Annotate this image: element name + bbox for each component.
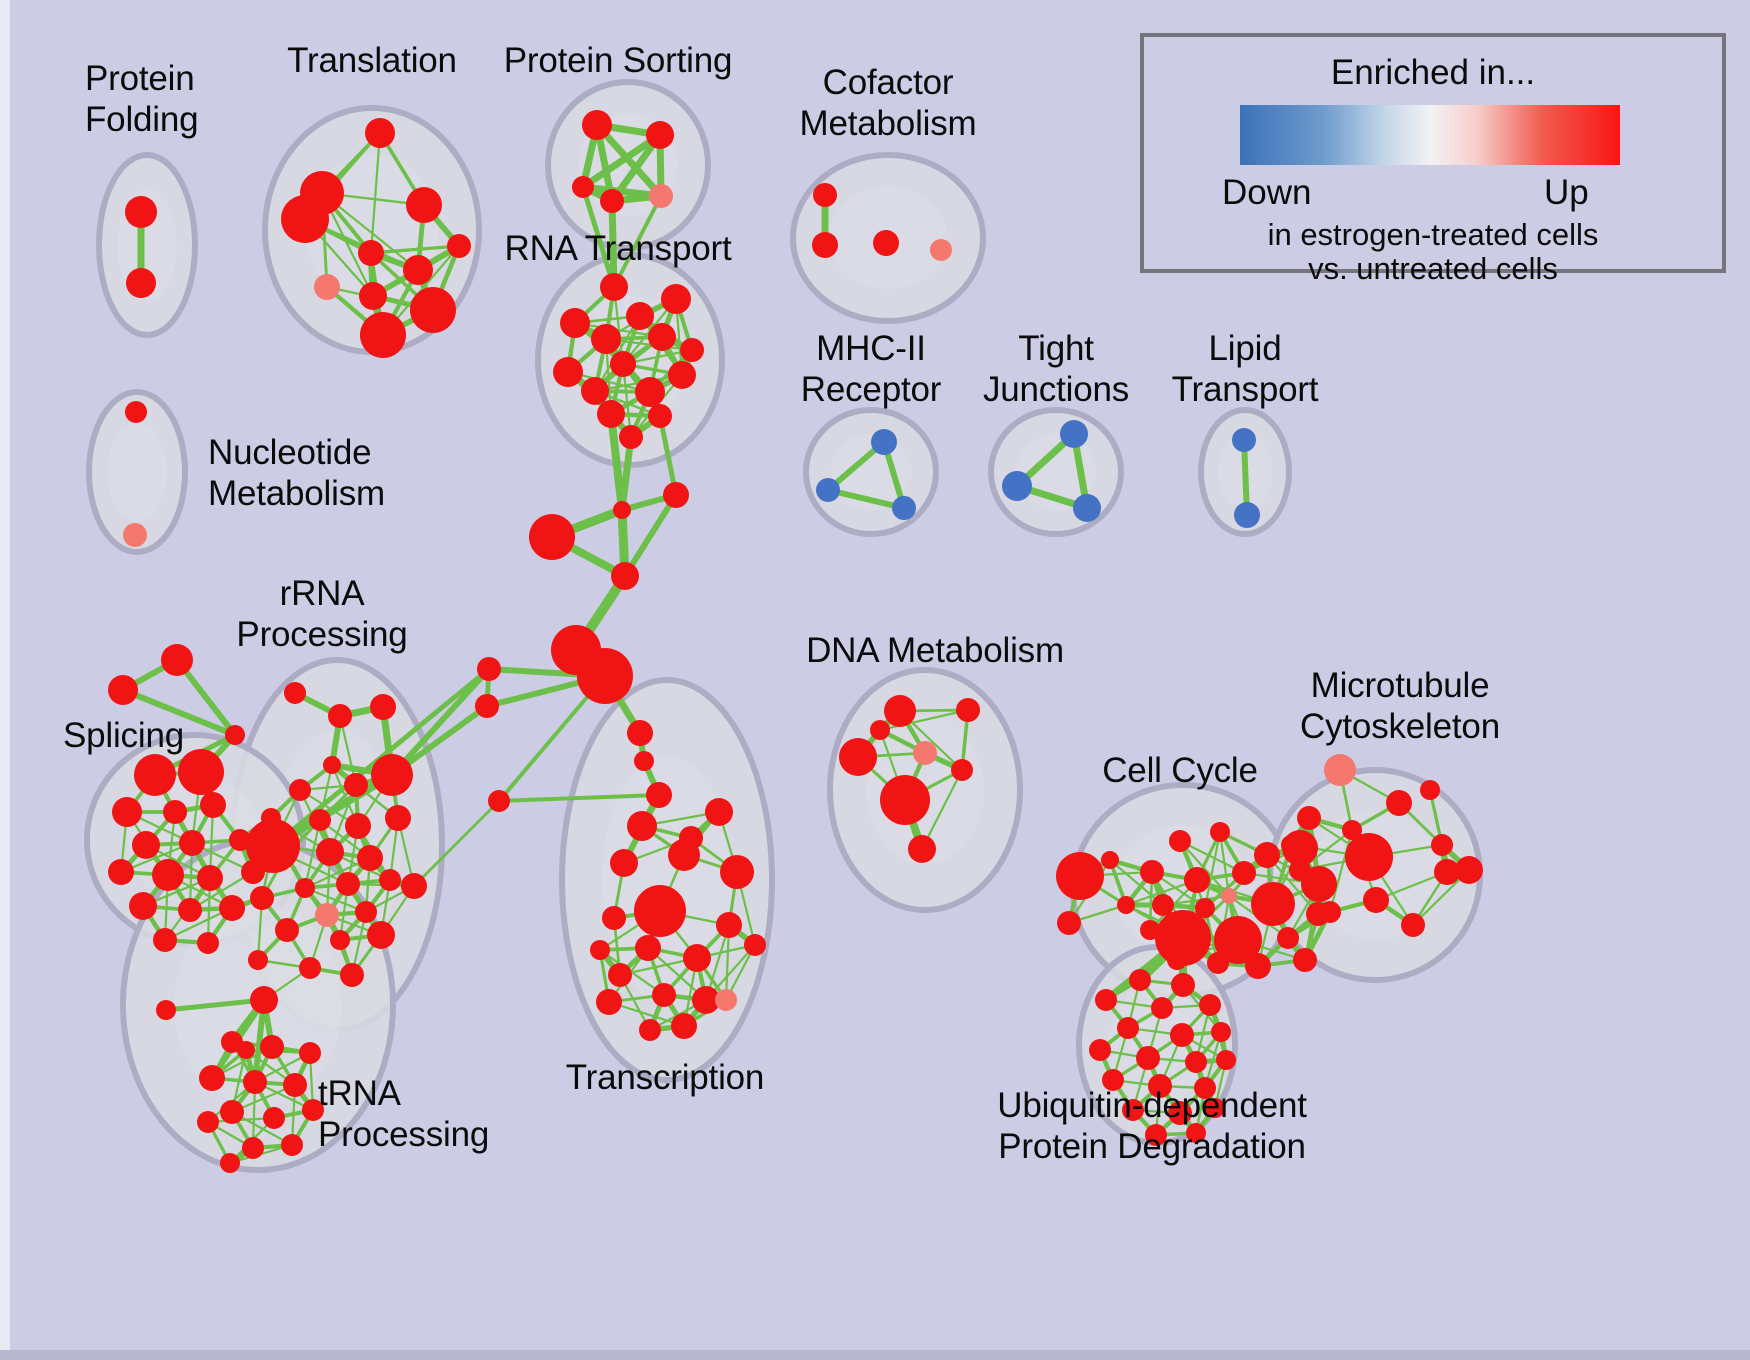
gene-set-node[interactable] <box>600 189 624 213</box>
gene-set-node[interactable] <box>365 118 395 148</box>
gene-set-node[interactable] <box>634 751 654 771</box>
enrichment-map-figure: ProteinFolding Translation Protein Sorti… <box>0 0 1750 1360</box>
cluster-label-cofactor-metabolism: CofactorMetabolism <box>800 62 977 144</box>
gene-set-node[interactable] <box>1342 820 1362 840</box>
gene-set-node[interactable] <box>602 906 626 930</box>
gene-set-node[interactable] <box>627 811 657 841</box>
cluster-label-dna-metabolism: DNA Metabolism <box>806 630 1064 671</box>
gene-set-node[interactable] <box>1401 913 1425 937</box>
gene-set-node[interactable] <box>597 400 625 428</box>
gene-set-node[interactable] <box>199 1065 225 1091</box>
gene-set-node[interactable] <box>648 323 676 351</box>
gene-set-node[interactable] <box>1245 953 1271 979</box>
gene-set-node[interactable] <box>330 930 350 950</box>
gene-set-node[interactable] <box>627 720 653 746</box>
gene-set-node[interactable] <box>260 1035 284 1059</box>
gene-set-node[interactable] <box>367 921 395 949</box>
cluster-label-rna-transport: RNA Transport <box>505 228 732 269</box>
legend-box: Enriched in... Down Up in estrogen-treat… <box>1140 33 1726 273</box>
gene-set-node[interactable] <box>220 1100 244 1124</box>
gene-set-node[interactable] <box>243 1070 267 1094</box>
cluster-label-protein-sorting: Protein Sorting <box>504 40 733 81</box>
gene-set-node[interactable] <box>340 963 364 987</box>
gene-set-node[interactable] <box>560 308 590 338</box>
gene-set-node[interactable] <box>1297 806 1321 830</box>
gene-set-node[interactable] <box>652 983 676 1007</box>
cluster-label-ubiquitin-protein-degradation: Ubiquitin-dependentProtein Degradation <box>997 1085 1307 1167</box>
gene-set-node[interactable] <box>1251 882 1295 926</box>
gene-set-node[interactable] <box>1169 830 1191 852</box>
gene-set-node[interactable] <box>591 324 621 354</box>
cluster-label-translation: Translation <box>287 40 457 81</box>
gene-set-node[interactable] <box>715 989 737 1011</box>
gene-set-node[interactable] <box>1324 754 1356 786</box>
gene-set-node[interactable] <box>683 944 711 972</box>
gene-set-node[interactable] <box>406 187 442 223</box>
gene-set-node[interactable] <box>812 232 838 258</box>
gene-set-node[interactable] <box>112 797 142 827</box>
gene-set-node[interactable] <box>355 901 377 923</box>
gene-set-node[interactable] <box>635 935 661 961</box>
gene-set-node[interactable] <box>385 805 411 831</box>
gene-set-node[interactable] <box>873 230 899 256</box>
gene-set-node[interactable] <box>613 501 631 519</box>
gene-set-node[interactable] <box>242 1137 264 1159</box>
gene-set-node[interactable] <box>132 831 160 859</box>
gene-set-node[interactable] <box>1171 973 1195 997</box>
gene-set-node[interactable] <box>225 725 245 745</box>
gene-set-node[interactable] <box>581 377 609 405</box>
gene-set-node[interactable] <box>720 855 754 889</box>
gene-set-node[interactable] <box>619 425 643 449</box>
gene-set-node[interactable] <box>611 562 639 590</box>
cluster-label-trna-processing: tRNAProcessing <box>318 1073 489 1155</box>
gene-set-node[interactable] <box>813 183 837 207</box>
gene-set-node[interactable] <box>1136 1046 1160 1070</box>
gene-set-node[interactable] <box>553 357 583 387</box>
gene-set-node[interactable] <box>219 895 245 921</box>
gene-set-node[interactable] <box>179 830 205 856</box>
gene-set-node[interactable] <box>295 878 315 898</box>
gene-set-node[interactable] <box>263 1107 285 1129</box>
gene-set-node[interactable] <box>600 273 628 301</box>
gene-set-node[interactable] <box>163 800 187 824</box>
gene-set-node[interactable] <box>371 754 413 796</box>
gene-set-node[interactable] <box>125 196 157 228</box>
gene-set-node[interactable] <box>671 1013 697 1039</box>
gene-set-node[interactable] <box>220 1153 240 1173</box>
gene-set-node[interactable] <box>1216 1050 1236 1070</box>
gene-set-node[interactable] <box>1185 1051 1207 1073</box>
gene-set-node[interactable] <box>358 240 384 266</box>
gene-set-node[interactable] <box>1293 948 1317 972</box>
gene-set-node[interactable] <box>1420 780 1440 800</box>
gene-set-node[interactable] <box>299 1042 321 1064</box>
gene-set-node[interactable] <box>281 1134 303 1156</box>
gene-set-node[interactable] <box>250 986 278 1014</box>
gene-set-node[interactable] <box>1232 861 1256 885</box>
gene-set-node[interactable] <box>1140 860 1164 884</box>
cluster-label-nucleotide-metabolism: NucleotideMetabolism <box>208 432 385 514</box>
gene-set-node[interactable] <box>1101 851 1119 869</box>
gene-set-node[interactable] <box>250 886 274 910</box>
gene-set-node[interactable] <box>178 898 202 922</box>
gene-set-node[interactable] <box>123 523 147 547</box>
gene-set-node[interactable] <box>610 849 638 877</box>
gene-set-node[interactable] <box>1345 833 1393 881</box>
gene-set-node[interactable] <box>880 775 930 825</box>
gene-set-node[interactable] <box>646 782 672 808</box>
gene-set-node[interactable] <box>1056 852 1104 900</box>
gene-set-node[interactable] <box>1210 822 1230 842</box>
gene-set-node[interactable] <box>178 749 224 795</box>
gene-set-node[interactable] <box>1073 494 1101 522</box>
gene-set-node[interactable] <box>871 429 897 455</box>
gene-set-node[interactable] <box>610 351 636 377</box>
gene-set-node[interactable] <box>1184 867 1210 893</box>
gene-set-node[interactable] <box>328 704 352 728</box>
gene-set-node[interactable] <box>370 694 396 720</box>
gene-set-node[interactable] <box>153 928 177 952</box>
gene-set-node[interactable] <box>870 720 890 740</box>
gene-set-node[interactable] <box>197 865 223 891</box>
cluster-label-lipid-transport: LipidTransport <box>1172 328 1319 410</box>
gene-set-node[interactable] <box>152 859 184 891</box>
legend-color-gradient-bar <box>1240 105 1620 165</box>
gene-set-node[interactable] <box>705 798 733 826</box>
gene-set-node[interactable] <box>1363 887 1389 913</box>
gene-set-node[interactable] <box>908 835 936 863</box>
gene-set-node[interactable] <box>283 1073 307 1097</box>
gene-set-node[interactable] <box>281 195 329 243</box>
gene-set-node[interactable] <box>475 694 499 718</box>
gene-set-node[interactable] <box>716 912 742 938</box>
gene-set-node[interactable] <box>197 932 219 954</box>
gene-set-node[interactable] <box>1057 911 1081 935</box>
gene-set-node[interactable] <box>410 287 456 333</box>
gene-set-node[interactable] <box>646 121 674 149</box>
cluster-label-protein-folding: ProteinFolding <box>85 58 198 140</box>
cluster-label-tight-junctions: TightJunctions <box>983 328 1129 410</box>
gene-set-node[interactable] <box>1060 420 1088 448</box>
gene-set-node[interactable] <box>635 377 665 407</box>
gene-set-node[interactable] <box>661 284 691 314</box>
gene-set-node[interactable] <box>246 819 300 873</box>
gene-set-node[interactable] <box>1117 1017 1139 1039</box>
gene-set-node[interactable] <box>639 1019 661 1041</box>
gene-set-node[interactable] <box>648 404 672 428</box>
gene-set-node[interactable] <box>447 234 471 258</box>
gene-set-node[interactable] <box>668 839 700 871</box>
gene-set-node[interactable] <box>1095 989 1117 1011</box>
gene-set-node[interactable] <box>1151 997 1173 1019</box>
gene-set-node[interactable] <box>649 184 673 208</box>
gene-set-node[interactable] <box>129 892 157 920</box>
legend-up-label: Up <box>1544 173 1589 213</box>
gene-set-node[interactable] <box>344 773 368 797</box>
gene-set-node[interactable] <box>314 274 340 300</box>
gene-set-node[interactable] <box>403 255 433 285</box>
cluster-label-microtubule-cytoskeleton: MicrotubuleCytoskeleton <box>1300 665 1500 747</box>
gene-set-node[interactable] <box>913 741 937 765</box>
gene-set-node[interactable] <box>529 514 575 560</box>
gene-set-node[interactable] <box>1152 894 1174 916</box>
gene-set-node[interactable] <box>125 401 147 423</box>
gene-set-node[interactable] <box>590 940 610 960</box>
gene-set-node[interactable] <box>1232 428 1256 452</box>
gene-set-node[interactable] <box>309 809 331 831</box>
gene-set-node[interactable] <box>1002 471 1032 501</box>
gene-set-node[interactable] <box>108 859 134 885</box>
gene-set-node[interactable] <box>359 282 387 310</box>
gene-set-node[interactable] <box>1289 859 1311 881</box>
gene-set-node[interactable] <box>248 950 268 970</box>
gene-set-node[interactable] <box>1277 927 1299 949</box>
cluster-label-mhc-ii-receptor: MHC-IIReceptor <box>801 328 941 410</box>
gene-set-node[interactable] <box>156 1000 176 1020</box>
gene-set-node[interactable] <box>1234 502 1260 528</box>
gene-set-node[interactable] <box>930 239 952 261</box>
gene-set-node[interactable] <box>1455 856 1483 884</box>
legend-down-label: Down <box>1222 173 1311 213</box>
gene-set-node[interactable] <box>608 963 632 987</box>
gene-set-node[interactable] <box>360 312 406 358</box>
gene-set-node[interactable] <box>839 738 877 776</box>
gene-set-node[interactable] <box>108 675 138 705</box>
gene-set-node[interactable] <box>1281 835 1301 855</box>
gene-set-node[interactable] <box>577 648 633 704</box>
gene-set-node[interactable] <box>379 869 401 891</box>
gene-set-node[interactable] <box>357 845 383 871</box>
gene-set-node[interactable] <box>477 657 501 681</box>
gene-set-node[interactable] <box>884 695 916 727</box>
legend-subtitle-line2: vs. untreated cells <box>1144 251 1722 287</box>
gene-set-node[interactable] <box>1199 994 1221 1016</box>
gene-set-node[interactable] <box>1155 910 1211 966</box>
gene-set-node[interactable] <box>1117 896 1135 914</box>
legend-subtitle-line1: in estrogen-treated cells <box>1144 217 1722 253</box>
gene-set-node[interactable] <box>582 110 612 140</box>
gene-set-node[interactable] <box>596 989 622 1015</box>
gene-set-node[interactable] <box>892 496 916 520</box>
gene-set-node[interactable] <box>1254 842 1280 868</box>
gene-set-node[interactable] <box>1129 969 1151 991</box>
gene-set-node[interactable] <box>161 644 193 676</box>
cluster-label-transcription: Transcription <box>566 1057 764 1098</box>
gene-set-node[interactable] <box>1431 834 1453 856</box>
gene-set-node[interactable] <box>336 872 360 896</box>
gene-set-node[interactable] <box>663 482 689 508</box>
gene-set-node[interactable] <box>744 934 766 956</box>
legend-title: Enriched in... <box>1144 53 1722 93</box>
gene-set-node[interactable] <box>197 1111 219 1133</box>
gene-set-node[interactable] <box>956 698 980 722</box>
gene-set-node[interactable] <box>1089 1039 1111 1061</box>
gene-set-node[interactable] <box>315 903 339 927</box>
gene-set-node[interactable] <box>816 478 840 502</box>
gene-set-node[interactable] <box>1221 888 1237 904</box>
gene-set-node[interactable] <box>345 813 371 839</box>
gene-set-node[interactable] <box>951 759 973 781</box>
gene-set-node[interactable] <box>237 1041 255 1059</box>
gene-set-node[interactable] <box>401 873 427 899</box>
gene-set-node[interactable] <box>1170 1023 1194 1047</box>
cluster-label-splicing: Splicing <box>63 715 184 756</box>
gene-set-node[interactable] <box>316 838 344 866</box>
gene-set-node[interactable] <box>626 302 654 330</box>
gene-set-node[interactable] <box>1319 901 1341 923</box>
gene-set-node[interactable] <box>284 682 306 704</box>
gene-set-node[interactable] <box>1386 790 1412 816</box>
gene-set-node[interactable] <box>275 918 299 942</box>
gene-set-node[interactable] <box>634 885 686 937</box>
gene-set-node[interactable] <box>1211 1022 1231 1042</box>
gene-set-node[interactable] <box>289 779 311 801</box>
gene-set-node[interactable] <box>134 754 176 796</box>
gene-set-node[interactable] <box>323 756 341 774</box>
gene-set-node[interactable] <box>488 790 510 812</box>
cluster-hull-inner-nucleotide-metabolism <box>107 422 167 521</box>
gene-set-node[interactable] <box>126 268 156 298</box>
gene-set-node[interactable] <box>1207 952 1229 974</box>
cluster-label-rrna-processing: rRNAProcessing <box>236 573 407 655</box>
gene-set-node[interactable] <box>680 338 704 362</box>
cluster-label-cell-cycle: Cell Cycle <box>1102 750 1258 791</box>
gene-set-node[interactable] <box>299 957 321 979</box>
gene-set-node[interactable] <box>668 361 696 389</box>
gene-set-node[interactable] <box>200 792 226 818</box>
gene-set-node[interactable] <box>572 176 594 198</box>
